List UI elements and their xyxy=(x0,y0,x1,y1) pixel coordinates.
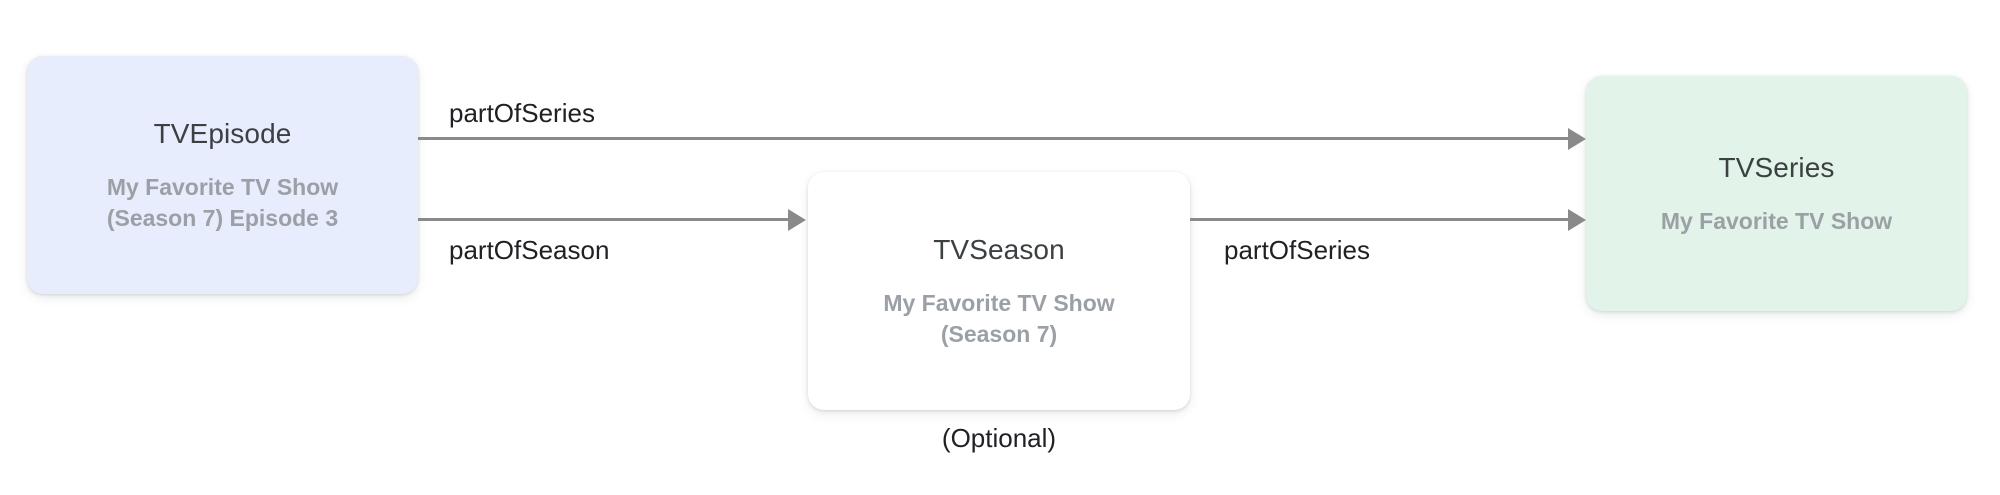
edge-partofseries-episode-series-line xyxy=(418,137,1570,140)
node-tvseries-subtitle-line1: My Favorite TV Show xyxy=(1661,206,1892,236)
edge-partofseason-episode-season-line xyxy=(418,218,790,221)
arrowhead-icon xyxy=(788,209,806,231)
node-tvepisode-title: TVEpisode xyxy=(154,117,292,151)
node-tvseries-subtitle: My Favorite TV Show xyxy=(1661,206,1892,236)
node-tvepisode[interactable]: TVEpisode My Favorite TV Show (Season 7)… xyxy=(27,56,418,294)
node-tvepisode-subtitle-line1: My Favorite TV Show xyxy=(107,172,338,202)
diagram-canvas: TVEpisode My Favorite TV Show (Season 7)… xyxy=(0,0,2000,495)
node-tvepisode-subtitle-line2: (Season 7) Episode 3 xyxy=(107,203,338,233)
edge-partofseason-episode-season-label: partOfSeason xyxy=(449,237,609,263)
node-tvseason-optional-caption: (Optional) xyxy=(808,425,1190,451)
arrowhead-icon xyxy=(1568,209,1586,231)
edge-partofseries-season-series-line xyxy=(1190,218,1570,221)
node-tvseries[interactable]: TVSeries My Favorite TV Show xyxy=(1586,76,1967,311)
edge-partofseries-season-series-label: partOfSeries xyxy=(1224,237,1370,263)
node-tvseason-subtitle-line1: My Favorite TV Show xyxy=(883,288,1114,318)
node-tvseason[interactable]: TVSeason My Favorite TV Show (Season 7) xyxy=(808,172,1190,410)
edge-partofseries-episode-series-label: partOfSeries xyxy=(449,100,595,126)
node-tvseason-title: TVSeason xyxy=(933,233,1065,267)
node-tvseason-subtitle-line2: (Season 7) xyxy=(883,319,1114,349)
arrowhead-icon xyxy=(1568,128,1586,150)
node-tvepisode-subtitle: My Favorite TV Show (Season 7) Episode 3 xyxy=(107,172,338,233)
node-tvseason-subtitle: My Favorite TV Show (Season 7) xyxy=(883,288,1114,349)
node-tvseries-title: TVSeries xyxy=(1719,151,1835,185)
